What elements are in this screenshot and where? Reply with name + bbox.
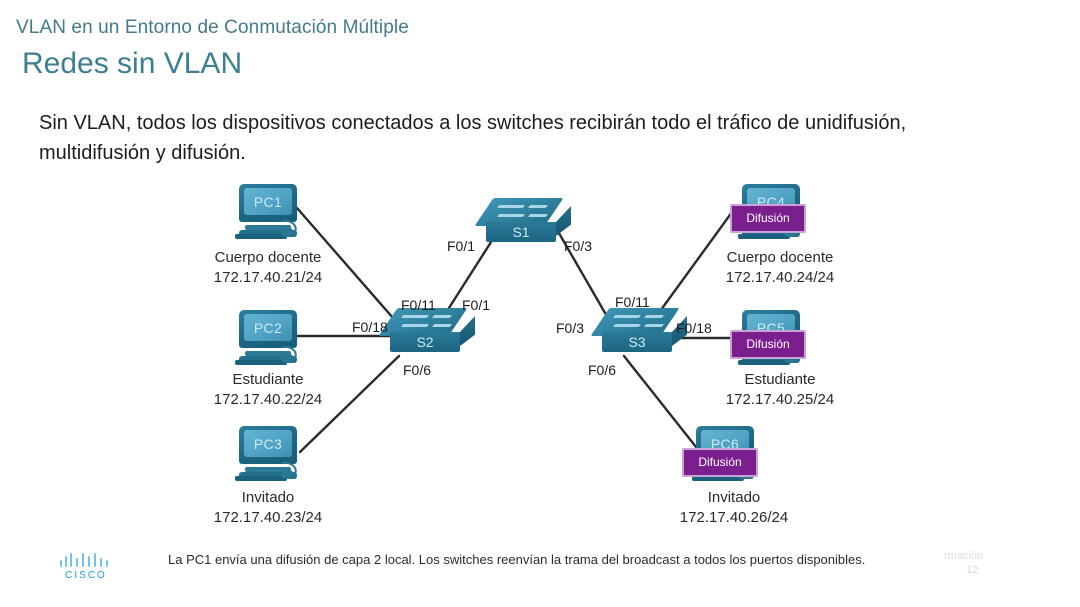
port-label-s2-pc2: F0/18: [352, 319, 388, 335]
switch-port-mark: [613, 315, 641, 318]
port-label-s2-pc1: F0/11: [401, 297, 436, 313]
caption-pc5: Estudiante 172.17.40.25/24: [690, 370, 870, 410]
mouse-icon: [281, 228, 294, 237]
ip-pc5: 172.17.40.25/24: [690, 390, 870, 410]
switch-side-face: [460, 316, 475, 346]
ip-pc3: 172.17.40.23/24: [178, 508, 358, 528]
switch-side-face: [556, 206, 571, 236]
caption-pc6: Invitado 172.17.40.26/24: [644, 488, 824, 528]
switch-port-mark: [528, 214, 548, 217]
slide-body-text: Sin VLAN, todos los dispositivos conecta…: [39, 108, 969, 168]
port-label-s3-pc4: F0/11: [615, 294, 650, 310]
device-s3[interactable]: S3: [600, 308, 688, 356]
cisco-logo: CISCO: [58, 552, 114, 586]
device-s1[interactable]: S1: [484, 198, 572, 246]
ip-pc2: 172.17.40.22/24: [178, 390, 358, 410]
device-pc2[interactable]: PC2: [235, 310, 301, 366]
broadcast-badge-pc4: Difusión: [730, 204, 806, 233]
port-label-s3-up: F0/3: [556, 320, 584, 336]
switch-port-mark: [528, 205, 548, 208]
port-label-s2-up: F0/1: [462, 297, 490, 313]
caption-pc2: Estudiante 172.17.40.22/24: [178, 370, 358, 410]
pc-icon-pc2: PC2: [235, 310, 301, 366]
broadcast-badge-pc5: Difusión: [730, 330, 806, 359]
switch-icon-s1: S1: [484, 198, 572, 246]
keyboard: [235, 234, 287, 239]
caption-pc4: Cuerpo docente 172.17.40.24/24: [690, 248, 870, 288]
switch-label-s3: S3: [602, 332, 672, 352]
keyboard: [738, 360, 790, 365]
role-pc5: Estudiante: [690, 370, 870, 390]
mouse-icon: [281, 470, 294, 479]
switch-port-mark: [432, 315, 452, 318]
port-label-s3-pc5: F0/18: [676, 320, 712, 336]
pc-icon-pc3: PC3: [235, 426, 301, 482]
switch-port-mark: [497, 205, 525, 208]
port-label-s1-right: F0/3: [564, 238, 592, 254]
watermark-text: rmación: [944, 550, 983, 562]
link-s3-pc6: [624, 356, 700, 452]
switch-port-mark: [432, 324, 452, 327]
role-pc1: Cuerpo docente: [178, 248, 358, 268]
cisco-wordmark: CISCO: [58, 570, 114, 581]
device-pc1[interactable]: PC1: [235, 184, 301, 240]
switch-port-mark: [401, 324, 429, 327]
device-s2[interactable]: S2: [388, 308, 476, 356]
switch-port-mark: [644, 315, 664, 318]
switch-port-mark: [497, 214, 525, 217]
switch-label-s1: S1: [486, 222, 556, 242]
port-label-s2-pc3: F0/6: [403, 362, 431, 378]
switch-icon-s3: S3: [600, 308, 688, 356]
caption-pc3: Invitado 172.17.40.23/24: [178, 488, 358, 528]
ip-pc1: 172.17.40.21/24: [178, 268, 358, 288]
page-number: 12: [966, 564, 978, 576]
switch-port-mark: [613, 324, 641, 327]
pc-icon-pc1: PC1: [235, 184, 301, 240]
page-title: Redes sin VLAN: [22, 47, 242, 81]
role-pc6: Invitado: [644, 488, 824, 508]
pc-label-pc3: PC3: [244, 430, 292, 457]
keyboard: [235, 360, 287, 365]
keyboard: [738, 234, 790, 239]
switch-icon-s2: S2: [388, 308, 476, 356]
role-pc2: Estudiante: [178, 370, 358, 390]
slide-root: VLAN en un Entorno de Conmutación Múltip…: [0, 0, 1080, 607]
role-pc4: Cuerpo docente: [690, 248, 870, 268]
pc-label-pc1: PC1: [244, 188, 292, 215]
device-pc3[interactable]: PC3: [235, 426, 301, 482]
role-pc3: Invitado: [178, 488, 358, 508]
switch-label-s2: S2: [390, 332, 460, 352]
footer-note: La PC1 envía una difusión de capa 2 loca…: [168, 552, 948, 567]
pc-label-pc2: PC2: [244, 314, 292, 341]
mouse-icon: [281, 354, 294, 363]
slide-eyebrow: VLAN en un Entorno de Conmutación Múltip…: [16, 17, 409, 39]
keyboard: [235, 476, 287, 481]
caption-pc1: Cuerpo docente 172.17.40.21/24: [178, 248, 358, 288]
ip-pc6: 172.17.40.26/24: [644, 508, 824, 528]
ip-pc4: 172.17.40.24/24: [690, 268, 870, 288]
cisco-bars-icon: [58, 552, 114, 567]
switch-port-mark: [401, 315, 429, 318]
port-label-s3-pc6: F0/6: [588, 362, 616, 378]
port-label-s1-left: F0/1: [447, 238, 475, 254]
switch-port-mark: [644, 324, 664, 327]
broadcast-badge-pc6: Difusión: [682, 448, 758, 477]
network-diagram: S1 S2: [0, 170, 1080, 540]
